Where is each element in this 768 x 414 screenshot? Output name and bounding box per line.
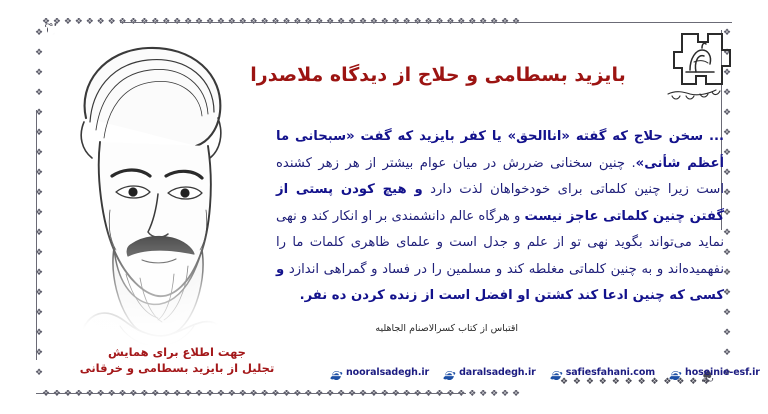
footer-link-daralsadegh[interactable]: daralsadegh.ir — [443, 367, 536, 380]
poster-canvas: ❖ ❖ ❖ ❖ ❖ ❖ ❖ ❖ ❖ ❖ ❖ ❖ ❖ ❖ ❖ ❖ ❖ ❖ ❖ ❖ … — [0, 0, 768, 414]
internet-explorer-icon — [443, 367, 456, 380]
announcement-line-1: جهت اطلاع برای همایش — [52, 344, 302, 360]
announcement-block: جهت اطلاع برای همایش تجلیل از بایزید بسط… — [52, 344, 302, 376]
body-text: ... سخن حلاج که گفته «اناالحق» یا کفر با… — [276, 124, 724, 310]
border-rule-bottom — [36, 393, 466, 394]
footer-ornament: ❖ ❖ ❖ ❖ ❖ ❖ ❖ ❖ ❖ ❖ ❖ ❖ — [560, 378, 711, 387]
organization-logo — [650, 26, 736, 110]
announcement-line-2: تجلیل از بایزید بسطامی و خرقانی — [52, 360, 302, 376]
border-ornament-bottom: ❖ ❖ ❖ ❖ ❖ ❖ ❖ ❖ ❖ ❖ ❖ ❖ ❖ ❖ ❖ ❖ ❖ ❖ ❖ ❖ … — [42, 390, 732, 402]
border-rule-top — [120, 22, 732, 23]
attribution-text: اقتباس از کتاب کسرالاصنام الجاهلیه — [375, 322, 518, 336]
border-ornament-left: ❖ ❖ ❖ ❖ ❖ ❖ ❖ ❖ ❖ ❖ ❖ ❖ ❖ ❖ ❖ ❖ ❖ ❖ ❖ ❖ … — [30, 28, 44, 388]
footer-link-url: daralsadegh.ir — [459, 367, 536, 379]
page-title: بایزید بسطامی و حلاج از دیدگاه ملاصدرا — [218, 62, 658, 88]
footer-link-nooralsadegh[interactable]: nooralsadegh.ir — [330, 367, 429, 380]
border-rule-left — [36, 110, 37, 360]
internet-explorer-icon — [330, 367, 343, 380]
footer-link-url: nooralsadegh.ir — [346, 367, 429, 379]
